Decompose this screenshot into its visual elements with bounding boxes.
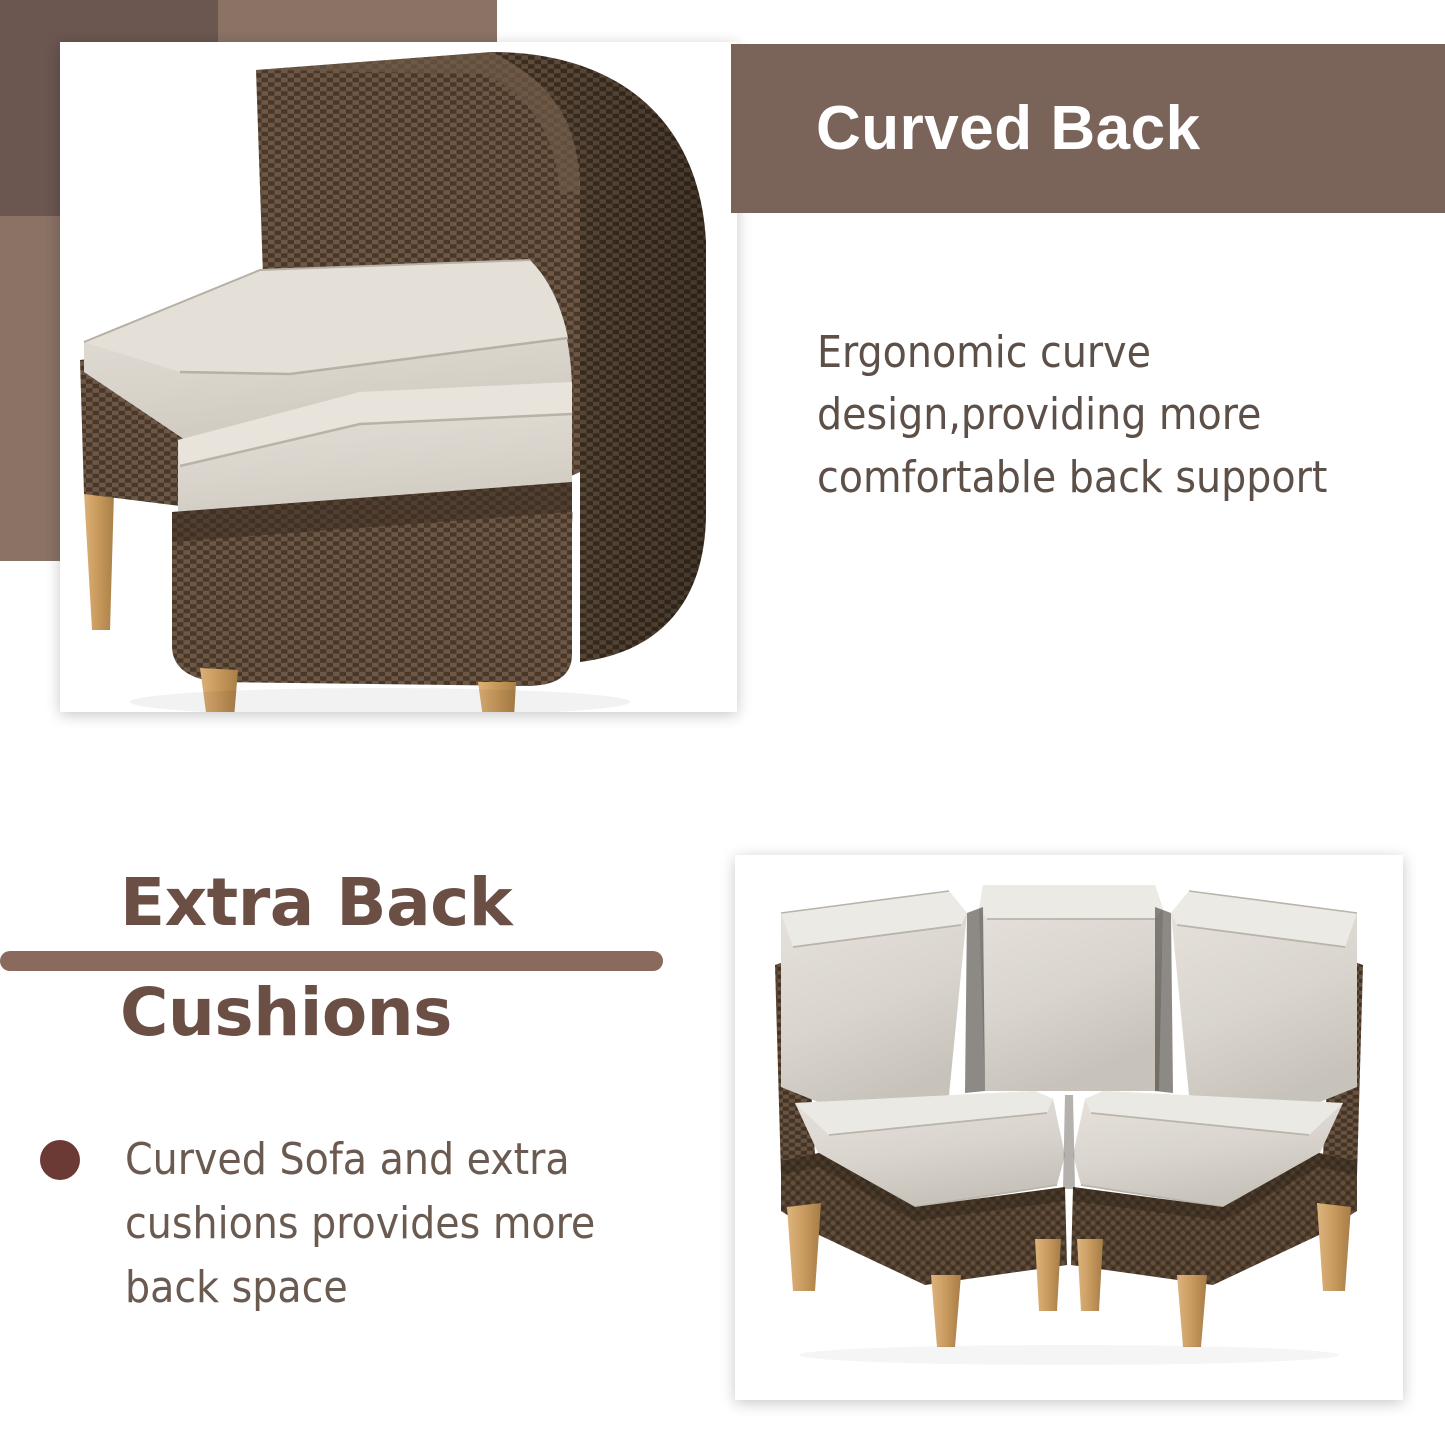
bullet-line-3: back space: [125, 1256, 595, 1320]
bullet-line-2: cushions provides more: [125, 1192, 595, 1256]
heading-line-1: Extra Back: [120, 868, 720, 938]
bullet-item-extra-cushions: Curved Sofa and extra cushions provides …: [40, 1128, 680, 1319]
product-photo-curved-back-chair: [60, 42, 737, 712]
bullet-dot-icon: [40, 1140, 80, 1180]
bullet-line-1: Curved Sofa and extra: [125, 1128, 595, 1192]
bullet-text: Curved Sofa and extra cushions provides …: [125, 1128, 595, 1319]
feature-line-2: design,providing more: [817, 384, 1417, 446]
decor-side-bar-light: [0, 216, 60, 561]
feature-line-1: Ergonomic curve: [817, 322, 1417, 384]
decor-side-bar-dark: [0, 0, 60, 216]
banner-title: Curved Back: [816, 93, 1201, 164]
feature-description-curved-back: Ergonomic curve design,providing more co…: [817, 322, 1417, 509]
feature-line-3: comfortable back support: [817, 447, 1417, 509]
heading-divider-rule: [0, 951, 663, 971]
product-photo-curved-sectional-sofa: [735, 855, 1403, 1400]
heading-line-2: Cushions: [120, 978, 720, 1048]
curved-back-chair-illustration: [60, 42, 737, 712]
section-banner-curved-back: Curved Back: [731, 44, 1445, 213]
decor-top-bar-light: [218, 0, 497, 46]
curved-sectional-sofa-illustration: [735, 855, 1403, 1400]
